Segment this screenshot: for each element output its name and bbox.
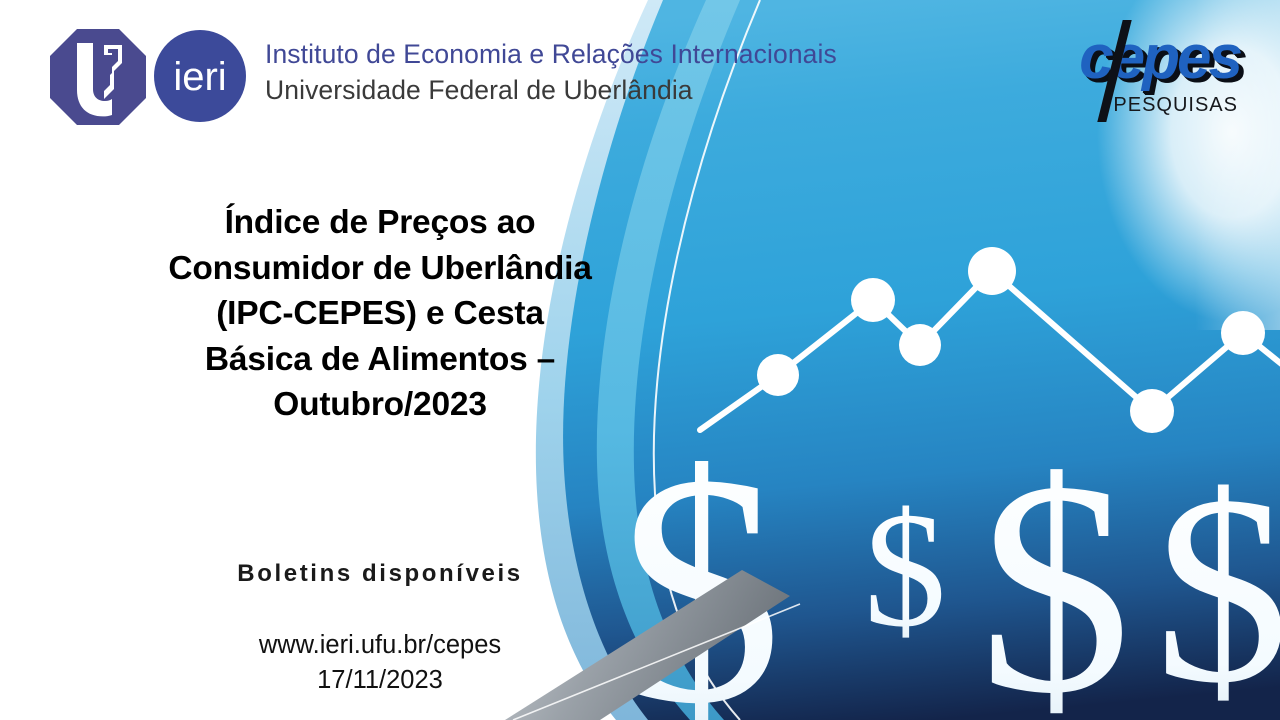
institute-name: Instituto de Economia e Relações Interna… <box>265 36 965 72</box>
chart-line <box>700 271 1280 430</box>
header: ieri Instituto de Economia e Relações In… <box>0 0 1000 140</box>
page-title: Índice de Preços ao Consumidor de Uberlâ… <box>120 200 640 428</box>
website-url[interactable]: www.ieri.ufu.br/cepes <box>120 628 640 663</box>
dollar-small-mid: $ <box>864 478 947 661</box>
ieri-logo: ieri <box>152 28 248 124</box>
chart-point <box>757 354 799 396</box>
title-line-5: Outubro/2023 <box>120 382 640 428</box>
header-text-block: Instituto de Economia e Relações Interna… <box>265 36 965 108</box>
ieri-wordmark: ieri <box>173 55 226 99</box>
dollar-large-mid: $ <box>979 418 1132 720</box>
presentation-slide: $ $ $ $ ieri Instituto de Economia <box>0 0 1280 720</box>
title-line-1: Índice de Preços ao <box>120 200 640 246</box>
chart-point <box>1221 311 1265 355</box>
chart-point <box>968 247 1016 295</box>
chart-point <box>1130 389 1174 433</box>
footer-contact-block: www.ieri.ufu.br/cepes 17/11/2023 <box>120 628 640 698</box>
chart-point <box>851 278 895 322</box>
title-line-4: Básica de Alimentos – <box>120 337 640 383</box>
university-name: Universidade Federal de Uberlândia <box>265 72 965 108</box>
cepes-subtitle: PESQUISAS <box>1113 94 1238 117</box>
cepes-logo: cepes PESQUISAS <box>992 22 1242 122</box>
ufu-logo <box>48 27 148 127</box>
decorative-line-chart <box>700 247 1280 433</box>
dollar-large-left: $ <box>618 407 783 720</box>
availability-label: Boletins disponíveis <box>120 560 640 588</box>
title-line-2: Consumidor de Uberlândia <box>120 246 640 292</box>
dollar-large-right: $ <box>1155 440 1280 720</box>
title-line-3: (IPC-CEPES) e Cesta <box>120 291 640 337</box>
publication-date: 17/11/2023 <box>120 663 640 698</box>
chart-point <box>899 324 941 366</box>
